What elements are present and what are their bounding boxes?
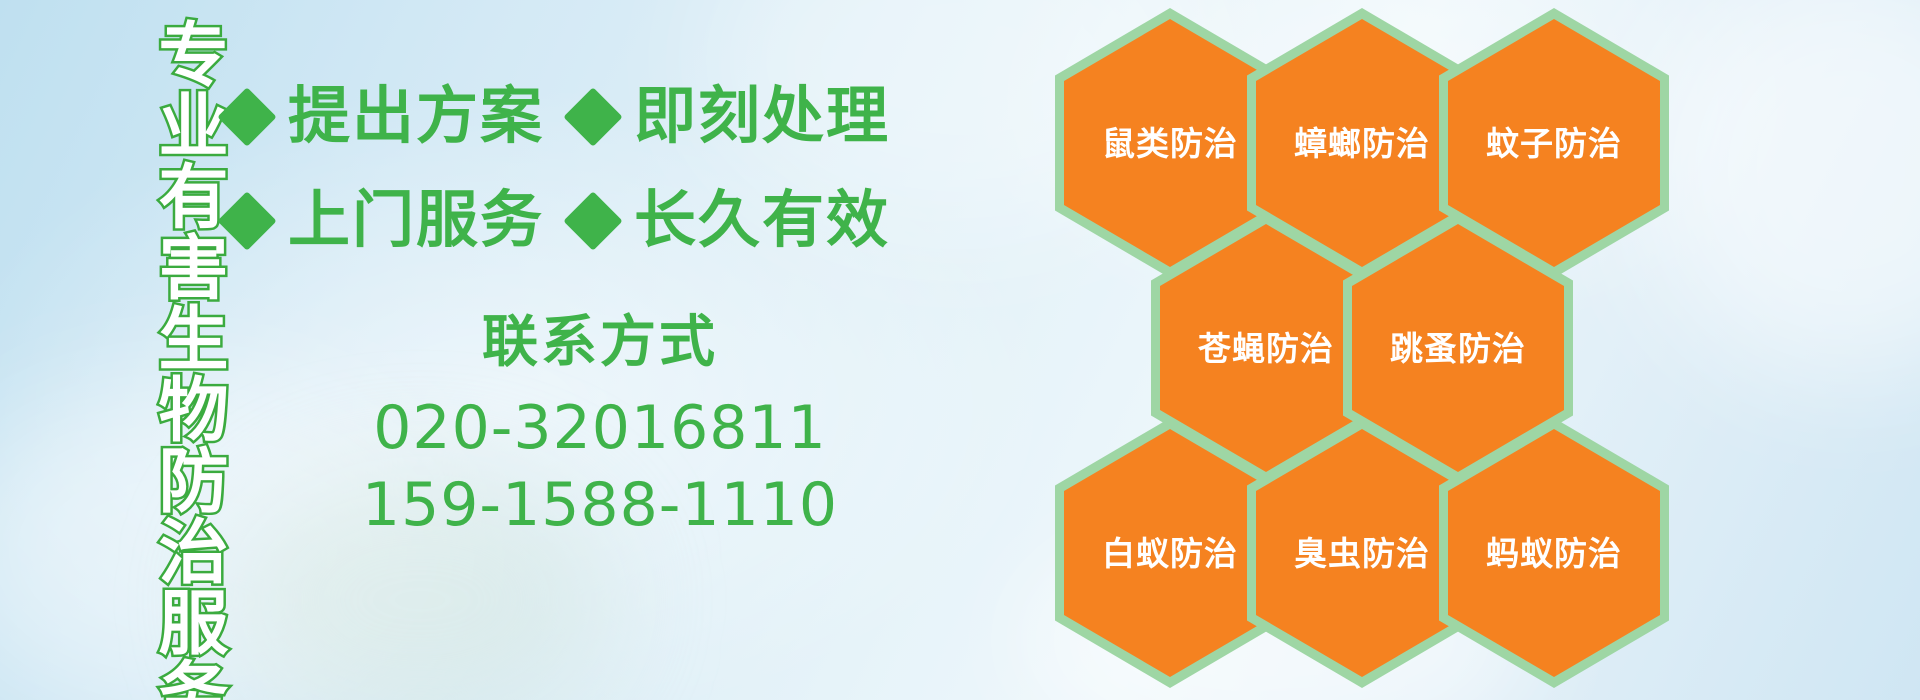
feature-label-long-lasting: 长久有效 (634, 190, 890, 252)
feature-row-2: 上门服务 长久有效 (226, 190, 890, 252)
diamond-icon (563, 191, 622, 250)
vertical-headline: 专业有害生物防治服务 (120, 18, 224, 682)
service-label: 臭虫防治 (1294, 537, 1430, 570)
promo-banner: 专业有害生物防治服务 提出方案 即刻处理 上门服务 长久有效 联系方式 020-… (0, 0, 1920, 700)
feature-row-1: 提出方案 即刻处理 (226, 86, 890, 148)
service-label: 蚊子防治 (1486, 127, 1622, 160)
contact-title: 联系方式 (300, 310, 900, 374)
service-label: 苍蝇防治 (1198, 332, 1334, 365)
service-label: 跳蚤防治 (1390, 332, 1526, 365)
diamond-icon (563, 87, 622, 146)
service-hex-ant[interactable]: 蚂蚁防治 (1439, 418, 1669, 688)
service-label: 鼠类防治 (1102, 127, 1238, 160)
contact-phone-landline[interactable]: 020-32016811 (300, 390, 900, 467)
diamond-icon (217, 87, 276, 146)
feature-label-onsite-service: 上门服务 (288, 190, 544, 252)
feature-label-immediate-action: 即刻处理 (634, 86, 890, 148)
service-label: 蟑螂防治 (1294, 127, 1430, 160)
contact-phone-mobile[interactable]: 159-1588-1110 (300, 467, 900, 544)
service-label: 蚂蚁防治 (1486, 537, 1622, 570)
service-label: 白蚁防治 (1102, 537, 1238, 570)
diamond-icon (217, 191, 276, 250)
service-honeycomb: 鼠类防治 蟑螂防治 蚊子防治 苍蝇防治 跳蚤防治 (1055, 0, 1855, 700)
contact-block: 联系方式 020-32016811 159-1588-1110 (300, 310, 900, 544)
feature-label-propose-plan: 提出方案 (288, 86, 544, 148)
